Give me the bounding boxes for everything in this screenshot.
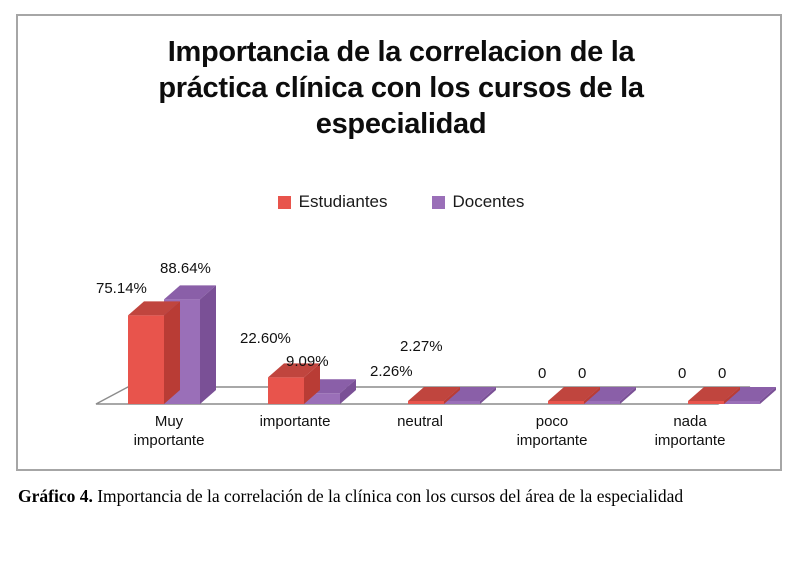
- category-axis-labels: Muyimportanteimportanteneutralpocoimport…: [18, 412, 784, 464]
- category-label-line: importante: [114, 431, 224, 450]
- category-label-4: nadaimportante: [630, 412, 750, 450]
- category-label-line: nada: [630, 412, 750, 431]
- category-label-line: neutral: [360, 412, 480, 431]
- value-label-docentes-3: 0: [578, 365, 586, 382]
- category-label-line: importante: [230, 412, 360, 431]
- value-label-docentes-1: 9.09%: [286, 353, 329, 370]
- plot-area: 75.14%88.64%22.60%9.09%2.26%2.27%0000: [18, 16, 784, 473]
- value-label-estudiantes-3: 0: [538, 365, 546, 382]
- figure-frame: Importancia de la correlacion de la prác…: [16, 14, 782, 471]
- figure-caption: Gráfico 4. Importancia de la correlación…: [18, 484, 774, 509]
- value-label-estudiantes-2: 2.26%: [370, 363, 413, 380]
- value-label-docentes-2: 2.27%: [400, 338, 443, 355]
- value-label-estudiantes-4: 0: [678, 365, 686, 382]
- value-label-docentes-4: 0: [718, 365, 726, 382]
- category-label-line: Muy: [114, 412, 224, 431]
- category-label-line: importante: [630, 431, 750, 450]
- category-label-3: pocoimportante: [492, 412, 612, 450]
- caption-text: Importancia de la correlación de la clín…: [93, 486, 683, 506]
- category-label-1: importante: [230, 412, 360, 431]
- category-label-0: Muyimportante: [114, 412, 224, 450]
- category-label-2: neutral: [360, 412, 480, 431]
- category-label-line: importante: [492, 431, 612, 450]
- category-label-line: poco: [492, 412, 612, 431]
- value-label-estudiantes-0: 75.14%: [96, 280, 147, 297]
- bar-chart-svg: [18, 16, 784, 473]
- value-label-estudiantes-1: 22.60%: [240, 330, 291, 347]
- value-label-docentes-0: 88.64%: [160, 260, 211, 277]
- caption-label: Gráfico 4.: [18, 486, 93, 506]
